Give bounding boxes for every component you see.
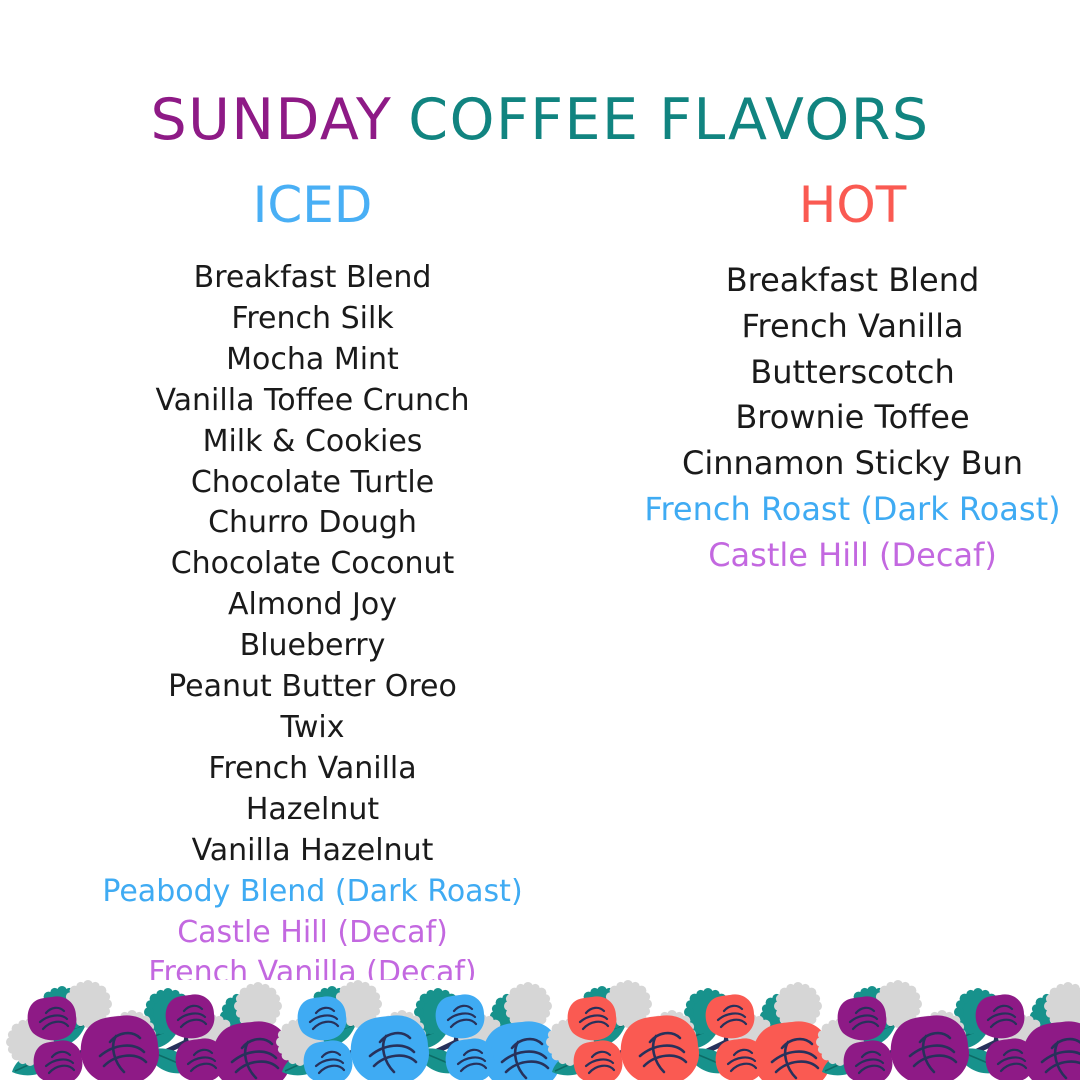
flavor-item: French Vanilla: [0, 749, 625, 790]
flavor-item: French Roast (Dark Roast): [625, 487, 1080, 533]
flavor-item: Peabody Blend (Dark Roast): [0, 872, 625, 913]
flavor-item: French Silk: [0, 299, 625, 340]
page-title: SUNDAYCOFFEE FLAVORS: [0, 86, 1080, 154]
flavor-item: Twix: [0, 708, 625, 749]
column-iced: ICED Breakfast BlendFrench SilkMocha Min…: [0, 180, 625, 994]
flavor-item: Castle Hill (Decaf): [0, 913, 625, 954]
flavor-item: Vanilla Toffee Crunch: [0, 381, 625, 422]
floral-panel-3: [546, 980, 850, 1080]
leaves: [822, 1022, 1080, 1075]
floral-panel-4: [816, 980, 1080, 1080]
flavor-item: Cinnamon Sticky Bun: [625, 441, 1080, 487]
flavor-item: Vanilla Hazelnut: [0, 831, 625, 872]
flavor-item: Chocolate Coconut: [0, 544, 625, 585]
leaves: [552, 1022, 850, 1075]
leaves: [282, 1022, 580, 1075]
flavor-item: Butterscotch: [625, 350, 1080, 396]
stem: [288, 1014, 538, 1066]
roses: [298, 994, 561, 1080]
flavor-item: Breakfast Blend: [625, 258, 1080, 304]
floral-panel-2: [276, 980, 580, 1080]
stem: [18, 1014, 268, 1066]
flavor-list-hot: Breakfast BlendFrench VanillaButterscotc…: [625, 258, 1080, 579]
stem: [828, 1014, 1078, 1066]
flavor-item: Hazelnut: [0, 790, 625, 831]
roses: [28, 994, 291, 1080]
flavor-list-iced: Breakfast BlendFrench SilkMocha MintVani…: [0, 258, 625, 994]
title-part-coffee-flavors: COFFEE FLAVORS: [408, 87, 929, 153]
flavor-item: Almond Joy: [0, 585, 625, 626]
flavor-item: French Vanilla: [625, 304, 1080, 350]
column-hot: HOT Breakfast BlendFrench VanillaButters…: [625, 180, 1080, 579]
flavor-menu-page: SUNDAYCOFFEE FLAVORS ICED Breakfast Blen…: [0, 0, 1080, 1080]
flavor-item: Chocolate Turtle: [0, 463, 625, 504]
flavor-columns: ICED Breakfast BlendFrench SilkMocha Min…: [0, 180, 1080, 994]
roses: [838, 994, 1080, 1080]
leaves: [12, 1022, 310, 1075]
column-heading-iced: ICED: [253, 180, 373, 230]
flavor-item: French Vanilla (Decaf): [0, 953, 625, 994]
flavor-item: Blueberry: [0, 626, 625, 667]
stem: [558, 1014, 808, 1066]
flavor-item: Peanut Butter Oreo: [0, 667, 625, 708]
floral-panels: [6, 980, 1080, 1080]
floral-border: [0, 980, 1080, 1080]
column-heading-hot: HOT: [799, 180, 907, 230]
roses: [568, 994, 831, 1080]
floral-panel-1: [6, 980, 310, 1080]
flavor-item: Milk & Cookies: [0, 422, 625, 463]
flavor-item: Mocha Mint: [0, 340, 625, 381]
flavor-item: Brownie Toffee: [625, 395, 1080, 441]
floral-border-svg: [0, 980, 1080, 1080]
flavor-item: Breakfast Blend: [0, 258, 625, 299]
flavor-item: Churro Dough: [0, 503, 625, 544]
flavor-item: Castle Hill (Decaf): [625, 533, 1080, 579]
title-part-sunday: SUNDAY: [150, 87, 392, 153]
